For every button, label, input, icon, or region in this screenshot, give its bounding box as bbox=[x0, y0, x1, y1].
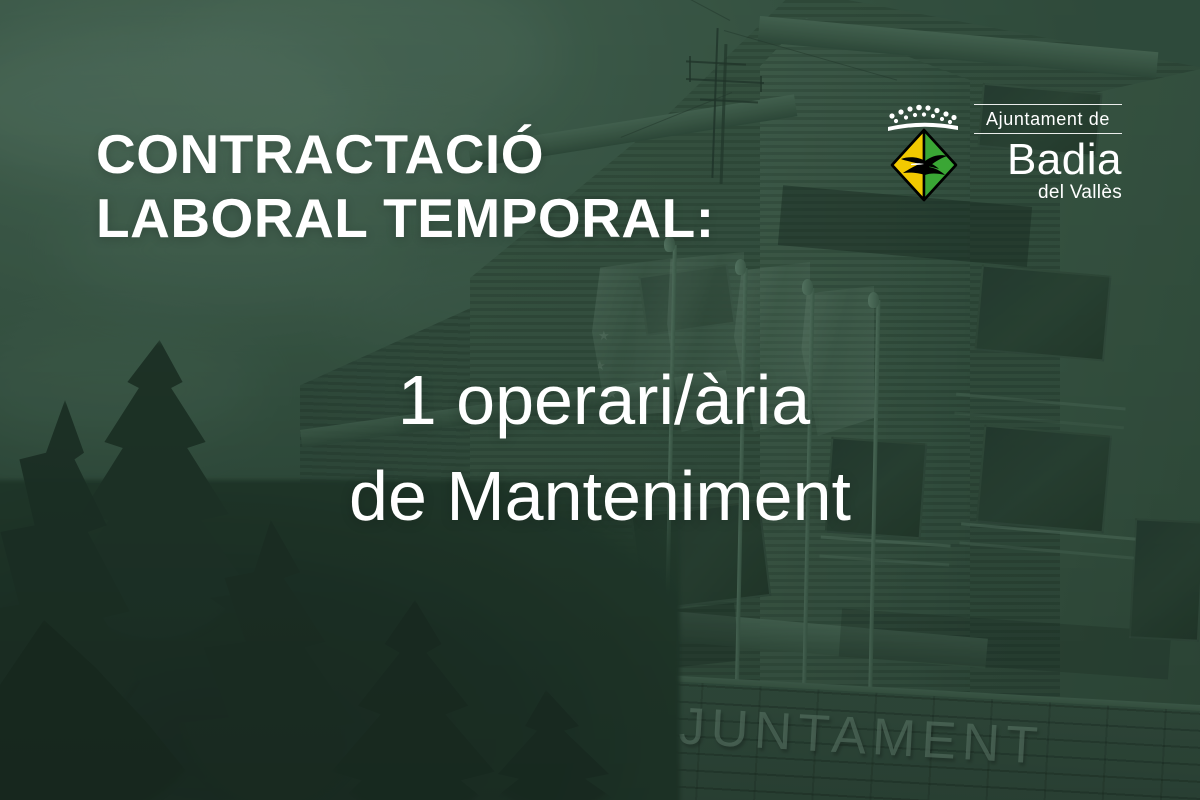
logo-mark bbox=[882, 100, 964, 204]
poster-subject-line-2: de Manteniment bbox=[0, 448, 1200, 544]
logo-wordmark: Ajuntament de Badia del Vallès bbox=[974, 100, 1122, 204]
logo-name: Badia bbox=[1007, 136, 1122, 184]
poster-subject: 1 operari/ària de Manteniment bbox=[0, 352, 1200, 544]
ajuntament-logo: Ajuntament de Badia del Vallès bbox=[882, 100, 1122, 208]
poster-canvas: ★ ★ ★ bbox=[0, 0, 1200, 800]
poster-subject-line-1: 1 operari/ària bbox=[0, 352, 1200, 448]
logo-qualifier: del Vallès bbox=[1038, 182, 1122, 204]
poster-headline: CONTRACTACIÓ LABORAL TEMPORAL: bbox=[96, 122, 715, 250]
swallow-shield-icon bbox=[889, 128, 959, 202]
logo-eyebrow: Ajuntament de bbox=[974, 104, 1122, 134]
